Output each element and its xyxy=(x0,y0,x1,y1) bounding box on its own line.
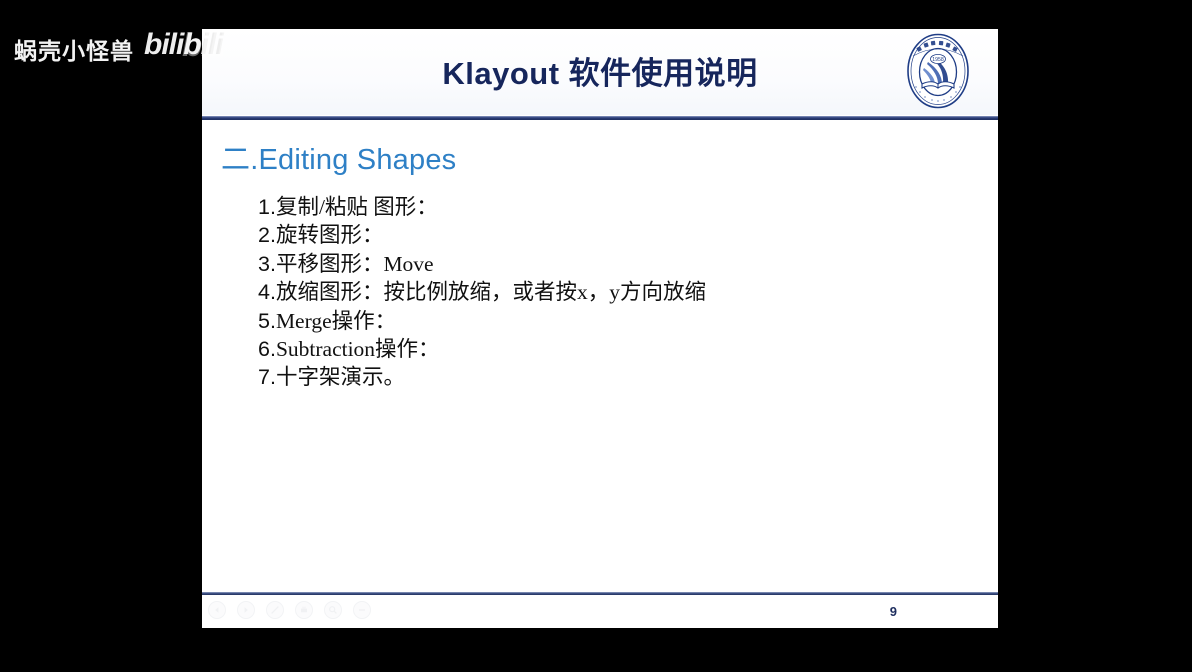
seal-year-label: 1958 xyxy=(932,57,944,63)
list-item-number: 2. xyxy=(258,223,276,247)
slide-toolbar xyxy=(208,601,371,619)
list-item: 5.Merge操作： xyxy=(258,307,706,335)
slide-body: 二.Editing Shapes 1.复制/粘贴 图形： 2.旋转图形： 3.平… xyxy=(202,120,998,591)
pen-annotate-icon[interactable] xyxy=(266,601,284,619)
previous-slide-icon[interactable] xyxy=(208,601,226,619)
list-item-label: 平移图形：Move xyxy=(276,252,434,276)
list-item-number: 7. xyxy=(258,365,276,389)
list-item-number: 3. xyxy=(258,252,276,276)
section-heading: 二.Editing Shapes xyxy=(221,136,456,178)
list-item: 4.放缩图形：按比例放缩，或者按x，y方向放缩 xyxy=(258,278,706,306)
list-item-number: 4. xyxy=(258,280,276,304)
slide-footer: 9 xyxy=(202,595,998,628)
ustc-seal-logo: 1958 xyxy=(899,32,977,110)
list-item: 6.Subtraction操作： xyxy=(258,335,706,363)
list-item: 2.旋转图形： xyxy=(258,221,706,249)
list-item-label: Subtraction操作： xyxy=(276,337,440,361)
presentation-slide: Klayout 软件使用说明 1958 xyxy=(202,29,998,628)
page-number: 9 xyxy=(890,604,897,619)
play-slide-icon[interactable] xyxy=(237,601,255,619)
list-item-label: 复制/粘贴 图形： xyxy=(276,195,438,219)
list-item-number: 6. xyxy=(258,337,276,361)
print-icon[interactable] xyxy=(295,601,313,619)
list-item-number: 5. xyxy=(258,309,276,333)
minus-icon[interactable] xyxy=(353,601,371,619)
list-item-number: 1. xyxy=(258,195,276,219)
slide-header: Klayout 软件使用说明 1958 xyxy=(202,29,998,115)
list-item-label: 旋转图形： xyxy=(276,223,384,247)
list-item: 1.复制/粘贴 图形： xyxy=(258,193,706,221)
channel-name-label: 蜗壳小怪兽 xyxy=(14,32,134,66)
video-player-frame: 蜗壳小怪兽 bilibili bili Klayout 软件使用说明 1958 xyxy=(0,0,1192,672)
list-item: 3.平移图形：Move xyxy=(258,250,706,278)
list-item-label: 放缩图形：按比例放缩，或者按x，y方向放缩 xyxy=(276,280,706,304)
list-item-label: Merge操作： xyxy=(276,309,396,333)
shape-editing-list: 1.复制/粘贴 图形： 2.旋转图形： 3.平移图形：Move 4.放缩图形：按… xyxy=(258,193,706,392)
zoom-search-icon[interactable] xyxy=(324,601,342,619)
slide-title: Klayout 软件使用说明 xyxy=(202,48,998,93)
list-item-label: 十字架演示。 xyxy=(276,365,405,389)
list-item: 7.十字架演示。 xyxy=(258,363,706,391)
